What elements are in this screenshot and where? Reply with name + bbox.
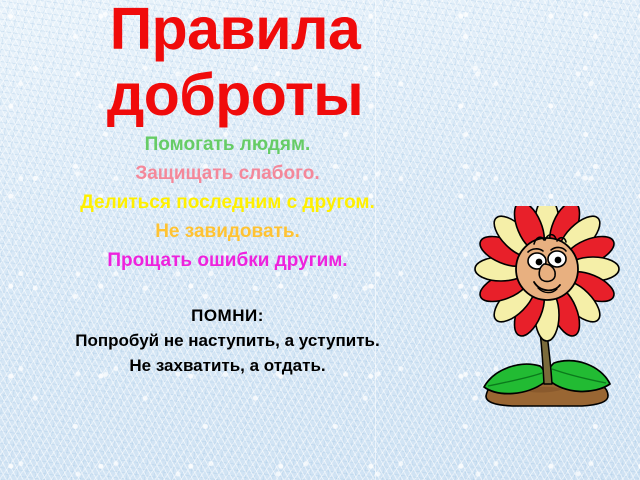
leaf-right [548,361,610,392]
flower-pupil-left [536,259,543,266]
rule-item-3: Делиться последним с другом. [0,188,455,217]
rule-item-4: Не завидовать. [0,217,455,246]
slide-canvas: Правила доброты Помогать людям. Защищать… [0,0,640,480]
remember-block: ПОМНИ: Попробуй не наступить, а уступить… [0,303,455,378]
remember-line-2: Не захватить, а отдать. [0,353,455,378]
rules-list: Помогать людям. Защищать слабого. Делить… [0,130,455,275]
page-title: Правила доброты [0,0,470,128]
flower-nose [539,264,555,281]
remember-line-1: Попробуй не наступить, а уступить. [0,328,455,353]
rule-item-1: Помогать людям. [0,130,455,159]
rule-item-2: Защищать слабого. [0,159,455,188]
flower-pupil-right [555,257,562,264]
smiling-flower-icon [452,206,640,411]
rule-item-5: Прощать ошибки другим. [0,246,455,275]
flower-illustration [452,206,640,411]
remember-heading: ПОМНИ: [0,303,455,328]
